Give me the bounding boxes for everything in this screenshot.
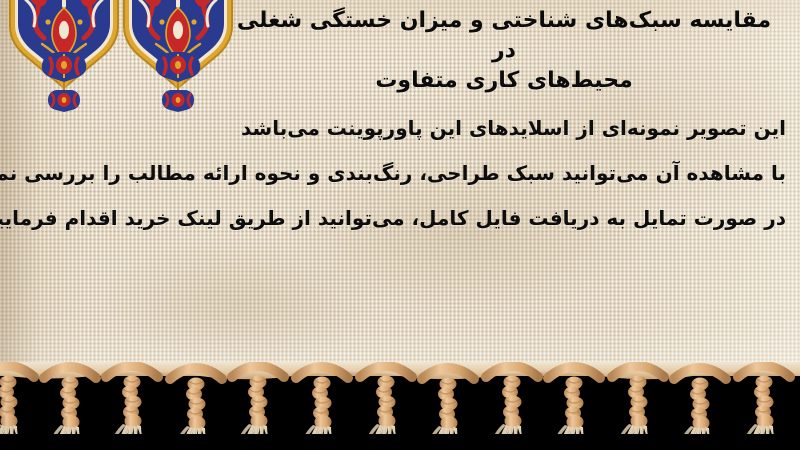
slide-title-line-2: محیط‌های کاری متفاوت bbox=[224, 66, 784, 96]
slide-bottom-edge bbox=[0, 434, 800, 450]
slide-body-text: این تصویر نمونه‌ای از اسلایدهای این پاور… bbox=[14, 106, 786, 241]
body-text-line-2: با مشاهده آن می‌توانید سبک طراحی، رنگ‌بن… bbox=[14, 151, 786, 196]
body-text-line-1: این تصویر نمونه‌ای از اسلایدهای این پاور… bbox=[14, 106, 786, 151]
presentation-slide: مقایسه سبک‌های شناختی و میزان خستگی شغلی… bbox=[0, 0, 800, 450]
body-text-line-3: در صورت تمایل به دریافت فایل کامل، می‌تو… bbox=[14, 196, 786, 241]
slide-title-line-1: مقایسه سبک‌های شناختی و میزان خستگی شغلی… bbox=[224, 6, 784, 66]
slide-title: مقایسه سبک‌های شناختی و میزان خستگی شغلی… bbox=[224, 6, 784, 96]
